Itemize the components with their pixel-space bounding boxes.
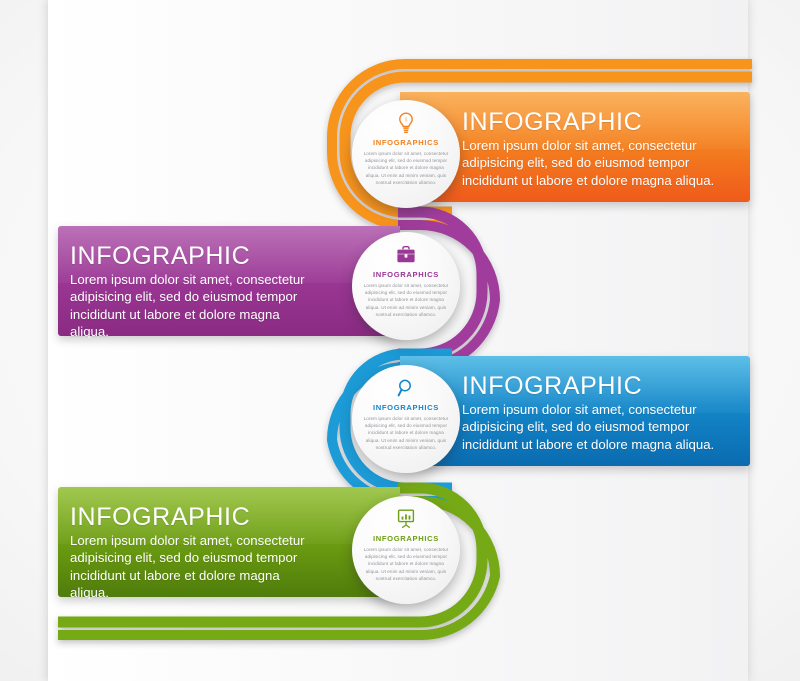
svg-text:i: i [405,118,406,124]
medallion-body: Lorem ipsum dolor sit amet, consectetur … [363,150,449,186]
banner-text-purple: INFOGRAPHIC Lorem ipsum dolor sit amet, … [70,243,322,340]
medallion-body: Lorem ipsum dolor sit amet, consectetur … [363,282,449,318]
infographic-canvas: INFOGRAPHIC Lorem ipsum dolor sit amet, … [0,0,800,681]
medallion-label: INFOGRAPHICS [352,403,460,412]
banner-bar-purple[interactable]: INFOGRAPHIC Lorem ipsum dolor sit amet, … [58,226,400,336]
banner-text-green: INFOGRAPHIC Lorem ipsum dolor sit amet, … [70,504,322,601]
presentation-board-icon [352,508,460,530]
medallion-body: Lorem ipsum dolor sit amet, consectetur … [363,546,449,582]
banner-text-blue: INFOGRAPHIC Lorem ipsum dolor sit amet, … [462,373,736,453]
banner-description: Lorem ipsum dolor sit amet, consectetur … [462,137,736,188]
briefcase-icon [352,244,460,266]
banner-description: Lorem ipsum dolor sit amet, consectetur … [70,532,322,601]
magnifier-icon [352,377,460,399]
banner-text-orange: INFOGRAPHIC Lorem ipsum dolor sit amet, … [462,109,736,189]
banner-description: Lorem ipsum dolor sit amet, consectetur … [70,271,322,340]
banner-description: Lorem ipsum dolor sit amet, consectetur … [462,401,736,452]
medallion-label: INFOGRAPHICS [352,138,460,147]
lightbulb-icon: i [352,112,460,134]
medallion-body: Lorem ipsum dolor sit amet, consectetur … [363,415,449,451]
medallion-label: INFOGRAPHICS [352,270,460,279]
banner-title: INFOGRAPHIC [462,109,736,135]
medallion-label: INFOGRAPHICS [352,534,460,543]
banner-bar-green[interactable]: INFOGRAPHIC Lorem ipsum dolor sit amet, … [58,487,400,597]
banner-title: INFOGRAPHIC [462,373,736,399]
medallion-blue[interactable]: INFOGRAPHICS Lorem ipsum dolor sit amet,… [352,365,460,473]
medallion-purple[interactable]: INFOGRAPHICS Lorem ipsum dolor sit amet,… [352,232,460,340]
banner-title: INFOGRAPHIC [70,504,322,530]
banner-title: INFOGRAPHIC [70,243,322,269]
medallion-orange[interactable]: i INFOGRAPHICS Lorem ipsum dolor sit ame… [352,100,460,208]
medallion-green[interactable]: INFOGRAPHICS Lorem ipsum dolor sit amet,… [352,496,460,604]
